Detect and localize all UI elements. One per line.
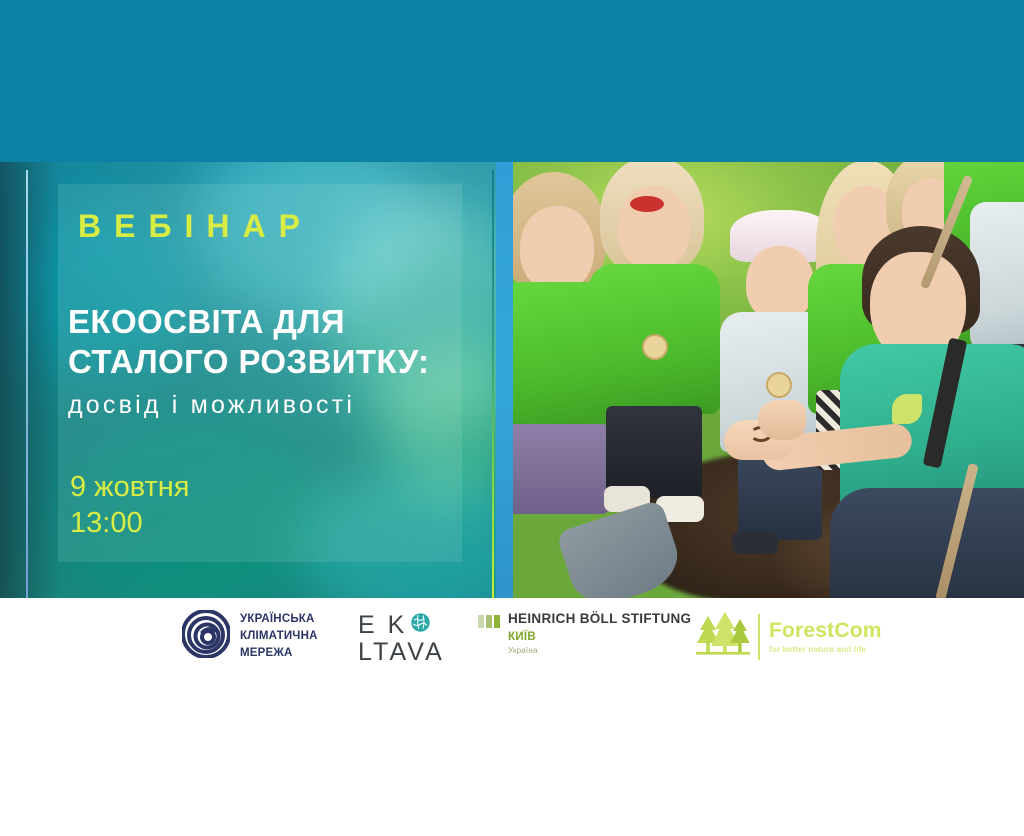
- ekoltava-ek-text: E K: [358, 612, 407, 639]
- logo-ukrainian-climate-network[interactable]: УКРАЇНСЬКА КЛІМАТИЧНА МЕРЕЖА: [182, 610, 318, 663]
- ekoltava-line-1: E K: [358, 612, 445, 639]
- forestcom-name: ForestCom: [769, 620, 882, 641]
- child-hand: [758, 400, 806, 440]
- head: [746, 246, 814, 322]
- photo-panel: [496, 162, 1024, 598]
- top-banner: [0, 0, 1024, 162]
- title-line-1: ЕКООСВІТА ДЛЯ: [68, 302, 488, 342]
- shoe: [732, 532, 778, 554]
- face-paint: [630, 196, 664, 212]
- kicker-label: ВЕБІНАР: [78, 210, 313, 242]
- legs: [606, 406, 702, 498]
- logo-forestcom[interactable]: ForestCom for better nature and life: [694, 610, 882, 663]
- left-vignette: [0, 162, 60, 598]
- title-line-2: СТАЛОГО РОЗВИТКУ:: [68, 342, 488, 382]
- globe-icon: [410, 612, 431, 639]
- page-subtitle: досвід і можливості: [68, 390, 488, 420]
- ukn-line-2: КЛІМАТИЧНА: [240, 630, 318, 642]
- left-text-panel: ВЕБІНАР ЕКООСВІТА ДЛЯ СТАЛОГО РОЗВИТКУ: …: [0, 162, 512, 598]
- logo-ukn-wordmark: УКРАЇНСЬКА КЛІМАТИЧНА МЕРЕЖА: [240, 611, 318, 661]
- pendant: [766, 372, 792, 398]
- forestcom-text-block: ForestCom for better nature and life: [769, 620, 882, 654]
- hbs-country: Україна: [508, 646, 691, 655]
- event-photo: [512, 162, 1024, 598]
- page-title: ЕКООСВІТА ДЛЯ СТАЛОГО РОЗВИТКУ:: [68, 302, 488, 383]
- event-date: 9 жовтня: [70, 468, 189, 507]
- child-figure: [590, 162, 720, 516]
- content-band: ВЕБІНАР ЕКООСВІТА ДЛЯ СТАЛОГО РОЗВИТКУ: …: [0, 162, 1024, 598]
- adult-figure: [808, 226, 1024, 598]
- ukn-line-1: УКРАЇНСЬКА: [240, 613, 315, 625]
- pendant: [642, 334, 668, 360]
- partner-logo-bar: УКРАЇНСЬКА КЛІМАТИЧНА МЕРЕЖА E K LTAVA: [0, 598, 1024, 836]
- webinar-poster: ВЕБІНАР ЕКООСВІТА ДЛЯ СТАЛОГО РОЗВИТКУ: …: [0, 0, 1024, 836]
- head: [520, 206, 594, 292]
- hbs-text-block: HEINRICH BÖLL STIFTUNG КИЇВ Україна: [508, 612, 691, 655]
- jeans: [830, 488, 1024, 598]
- forestcom-divider: [758, 614, 760, 660]
- shirt-logo: [892, 394, 922, 424]
- spiral-icon: [182, 610, 230, 663]
- left-vertical-rule: [26, 170, 28, 598]
- event-time: 13:00: [70, 504, 143, 543]
- forestcom-tagline: for better nature and life: [769, 645, 882, 654]
- three-bars-icon: [478, 615, 500, 628]
- logo-ekoltava[interactable]: E K LTAVA: [358, 612, 445, 666]
- trees-icon: [694, 610, 752, 663]
- hbs-city: КИЇВ: [508, 631, 691, 643]
- logo-heinrich-boll-stiftung[interactable]: HEINRICH BÖLL STIFTUNG КИЇВ Україна: [478, 612, 691, 655]
- ekoltava-line-2: LTAVA: [358, 639, 445, 666]
- hbs-name: HEINRICH BÖLL STIFTUNG: [508, 612, 691, 626]
- ukn-line-3: МЕРЕЖА: [240, 647, 293, 659]
- photo-left-blue-strip: [496, 162, 513, 598]
- right-vertical-rule: [492, 170, 494, 598]
